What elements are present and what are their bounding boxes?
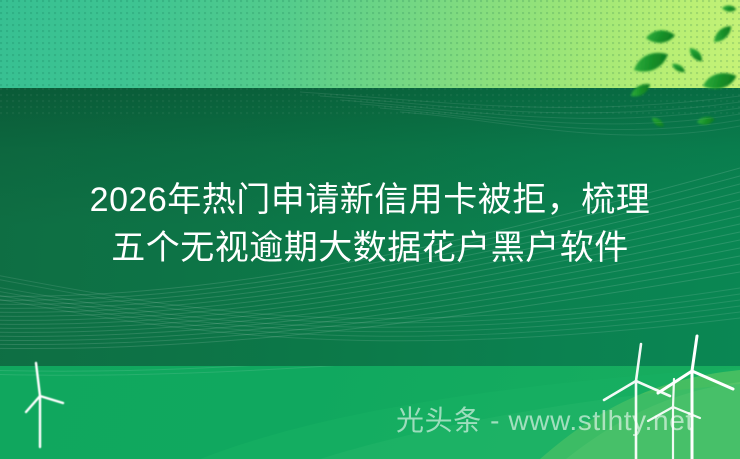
promo-banner: 2026年热门申请新信用卡被拒，梳理 五个无视逾期大数据花户黑户软件 光头条 -…: [0, 0, 740, 459]
site-watermark: 光头条 - www.stlhty.net: [396, 404, 694, 438]
banner-title: 2026年热门申请新信用卡被拒，梳理 五个无视逾期大数据花户黑户软件: [0, 176, 740, 272]
middle-band-dot-pattern: [0, 88, 740, 118]
title-line-1: 2026年热门申请新信用卡被拒，梳理: [0, 176, 740, 224]
title-line-2: 五个无视逾期大数据花户黑户软件: [0, 224, 740, 272]
top-band-dot-pattern: [0, 0, 740, 88]
